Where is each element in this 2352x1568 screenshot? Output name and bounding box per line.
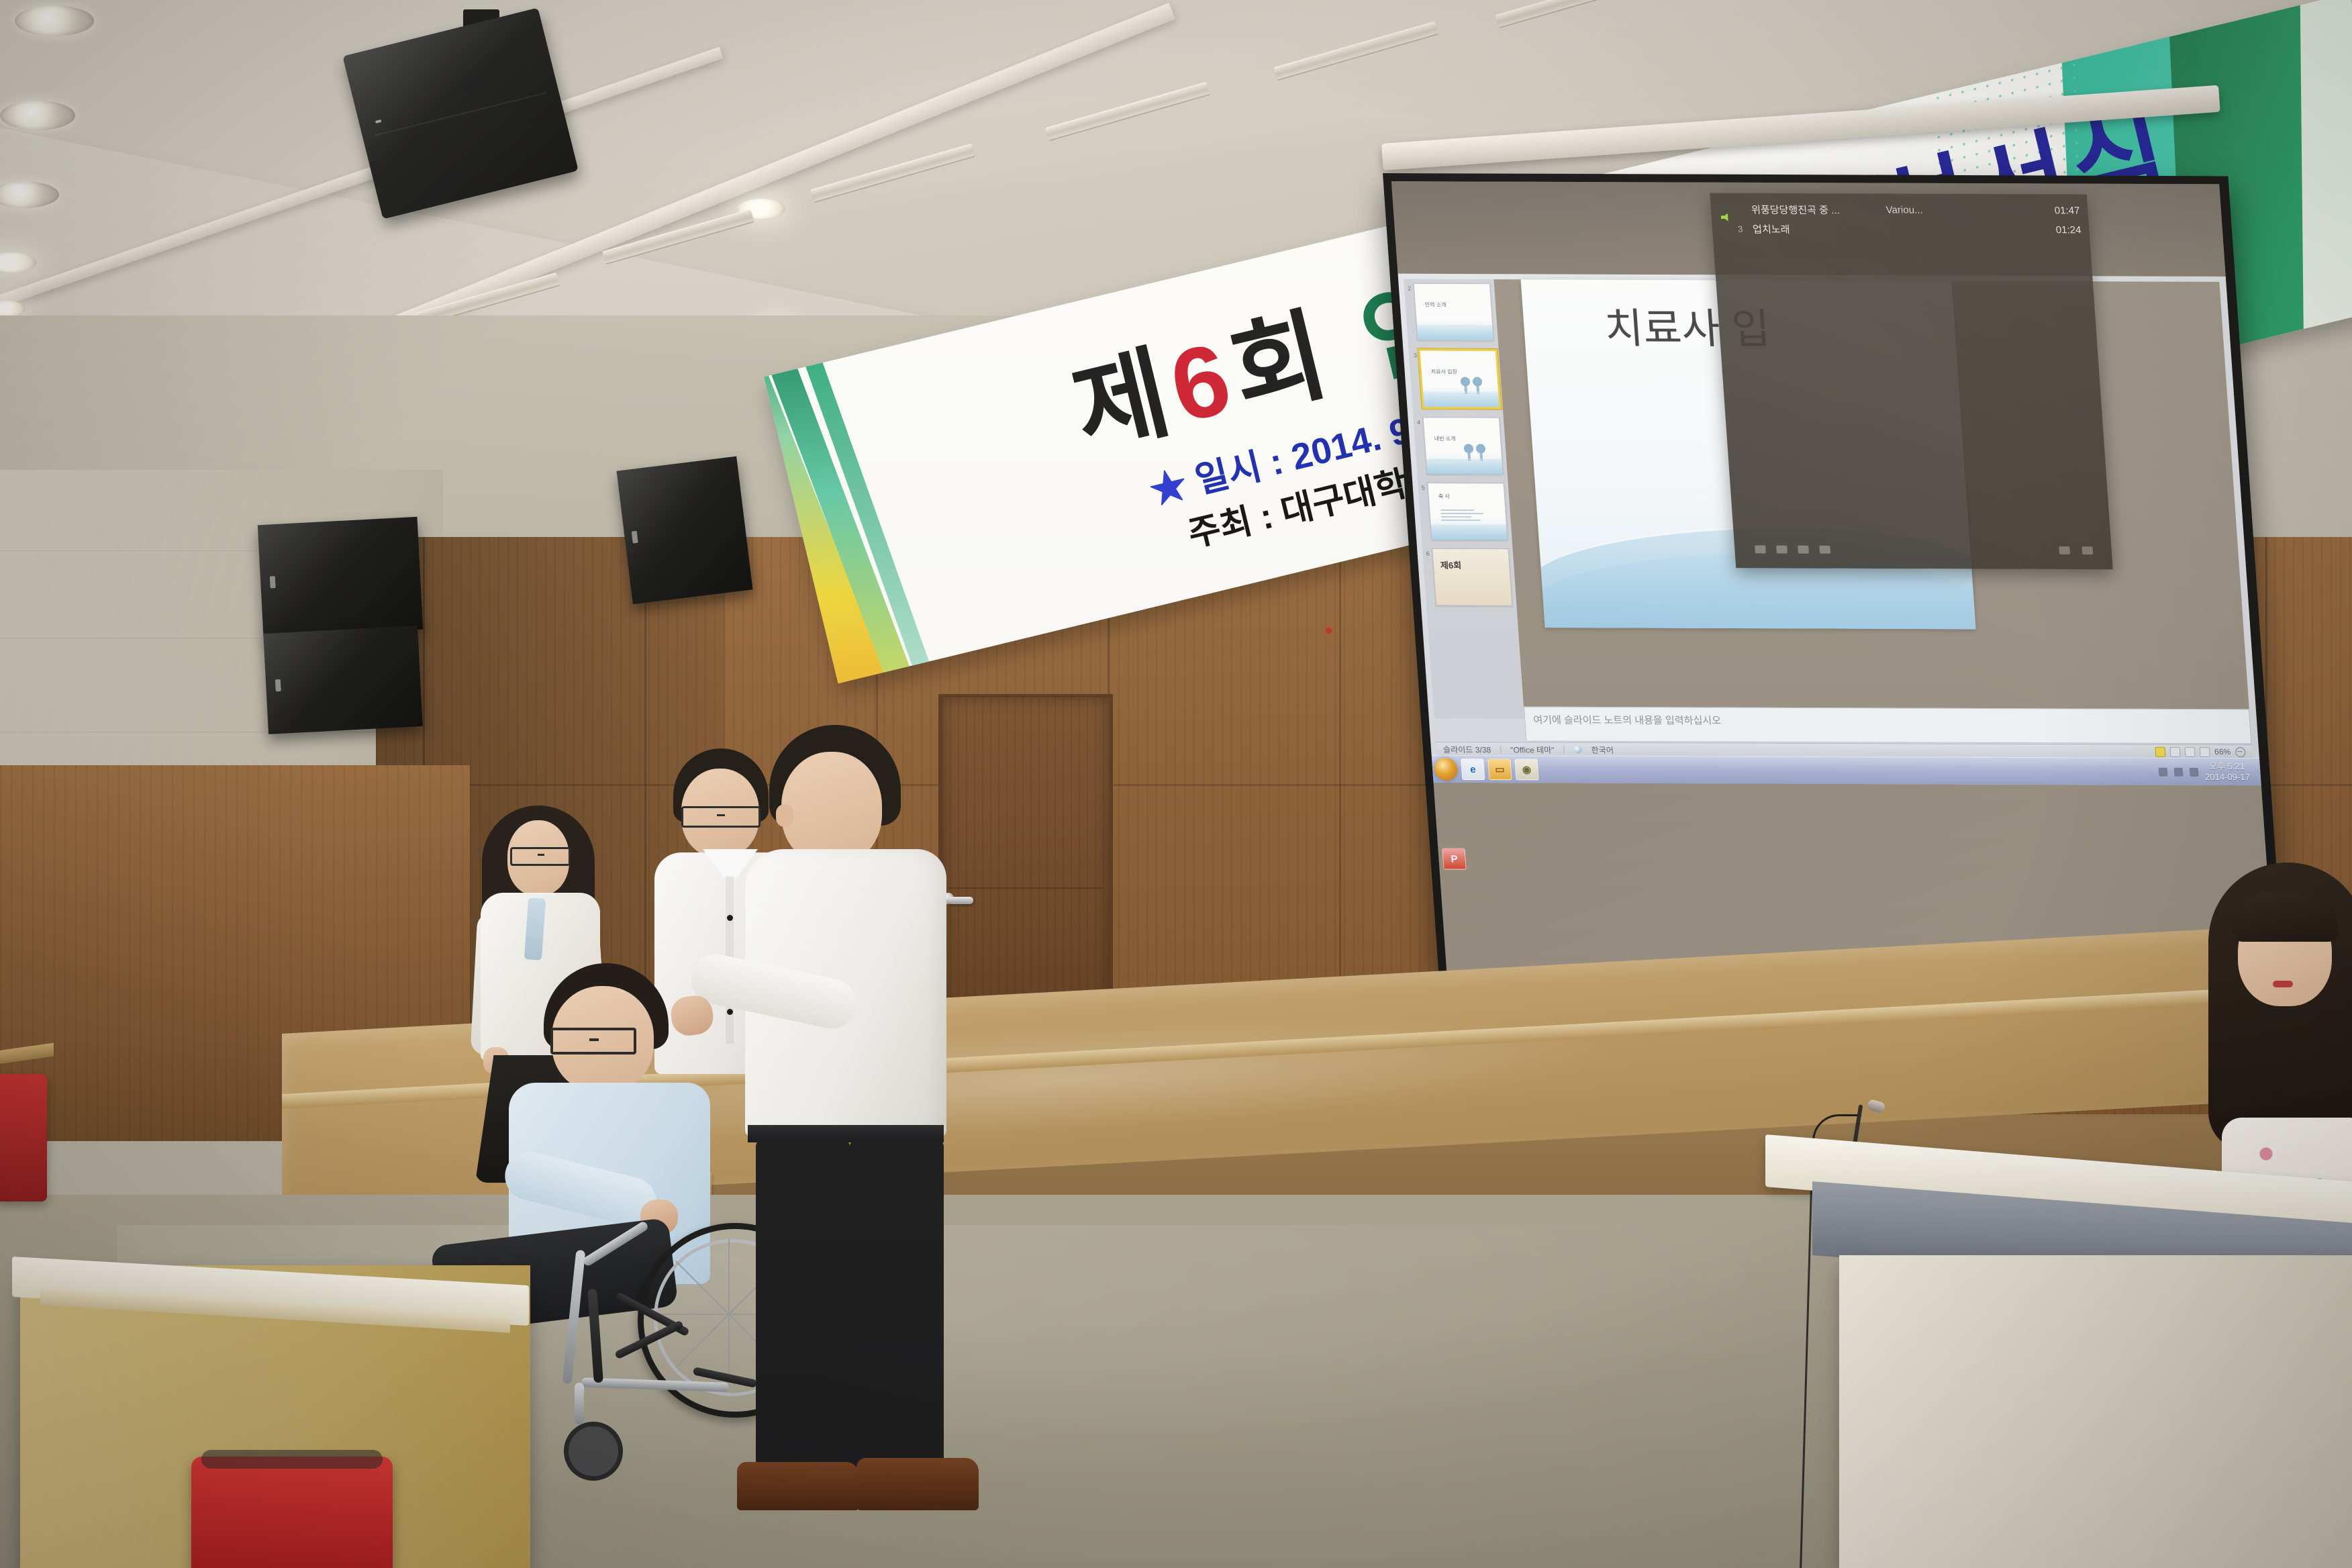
far-red-chair	[0, 1074, 47, 1202]
slide-thumbnail-title: 내빈 소개	[1434, 435, 1456, 442]
powerpoint-icon[interactable]: P	[1442, 848, 1466, 870]
track-artist: Variou...	[1885, 204, 1948, 215]
slide-thumbnail-number: 3	[1414, 352, 1418, 358]
powerpoint-window[interactable]: 2 인력 소개 3 치료사 입장 4 내빈 소개	[1398, 274, 2261, 785]
slide-editing-area[interactable]: 치료사 입 위풍당당행진곡 중 ... Variou... 01:47	[1493, 279, 2250, 721]
slide-thumbnail-selected[interactable]: 3 치료사 입장	[1418, 348, 1502, 409]
wall-speaker-upper	[258, 517, 423, 638]
media-player-options[interactable]	[2059, 546, 2093, 554]
speaker-icon	[1720, 213, 1730, 222]
media-player-window[interactable]: 위풍당당행진곡 중 ... Variou... 01:47 3 업치노래 01:…	[1710, 193, 2113, 570]
taskbar-clock[interactable]: 오후 5:21 2014-09-17	[2204, 761, 2256, 783]
tray-display-icon[interactable]	[2173, 767, 2183, 776]
slide-counter: 슬라이드 3/38	[1442, 744, 1491, 755]
red-chair	[191, 1457, 393, 1568]
slide-thumbnail-title: 치료사 입장	[1430, 368, 1457, 375]
media-player-icon[interactable]: ◉	[1514, 758, 1538, 780]
slide-thumbnail[interactable]: 6 제6회	[1432, 548, 1512, 606]
shoe	[856, 1458, 979, 1510]
slide-thumbnail[interactable]: 5 축 사	[1427, 483, 1508, 540]
tray-network-icon[interactable]	[2158, 767, 2167, 776]
track-name: 위풍당당행진곡 중 ...	[1751, 203, 1886, 217]
wheelchair-caster-wheel	[564, 1422, 623, 1481]
auditorium-photo: 제6회 언어치료사 선서식 ★ 일시 : 2014. 9. 17(수) ★ 장소…	[0, 0, 2352, 1568]
repeat-icon[interactable]	[2081, 546, 2093, 554]
wheelchair-caster-fork	[575, 1383, 584, 1424]
windows-taskbar[interactable]: e ▭ P ◉ 오후 5:21 2014-09-17	[1432, 755, 2261, 785]
input-language: 한국어	[1591, 744, 1614, 755]
slide-thumbnail-number: 5	[1422, 485, 1426, 491]
language-icon	[1573, 746, 1582, 754]
wall-speaker-side	[616, 456, 752, 604]
lectern-body	[1839, 1255, 2352, 1568]
next-icon[interactable]	[1798, 546, 1809, 554]
clock-time: 오후 5:21	[2208, 761, 2245, 771]
play-icon[interactable]	[1776, 546, 1787, 554]
slide-thumbnail-title: 인력 소개	[1424, 301, 1447, 309]
slide-thumbnail-number: 6	[1426, 550, 1430, 557]
tray-volume-icon[interactable]	[2189, 767, 2198, 776]
glasses-icon	[510, 847, 571, 866]
previous-icon[interactable]	[1755, 545, 1766, 553]
reading-view-icon[interactable]	[2184, 746, 2195, 756]
star-icon: ★	[1146, 464, 1191, 512]
wall-speaker-lower	[263, 626, 423, 734]
track-duration: 01:47	[2054, 205, 2080, 216]
playlist-row[interactable]: 3 업치노래 01:24	[1737, 222, 2081, 238]
glasses-icon	[550, 1028, 636, 1055]
clock-date: 2014-09-17	[2205, 772, 2251, 782]
playlist-row[interactable]: 위풍당당행진곡 중 ... Variou... 01:47	[1736, 203, 2080, 218]
normal-view-icon[interactable]	[2155, 746, 2165, 756]
start-orb-icon[interactable]	[1434, 758, 1458, 781]
downlight	[0, 101, 75, 130]
slide-theme-name: "Office 테마"	[1510, 744, 1555, 755]
zoom-controls[interactable]: 66%	[2155, 746, 2245, 756]
slide-notes-pane[interactable]: 여기에 슬라이드 노트의 내용을 입력하십시오	[1524, 707, 2252, 744]
track-duration: 01:24	[2055, 224, 2081, 236]
media-player-controls[interactable]	[1755, 545, 1830, 553]
person-podium-host	[2208, 863, 2352, 1212]
track-name: 업치노래	[1752, 222, 1888, 237]
shoe	[737, 1462, 859, 1510]
slide-thumbnail[interactable]: 2 인력 소개	[1414, 283, 1494, 341]
slide-thumbnail-number: 2	[1408, 285, 1412, 292]
sorter-view-icon[interactable]	[2169, 746, 2180, 756]
zoom-level: 66%	[2214, 747, 2231, 756]
track-index: 3	[1738, 224, 1753, 234]
person-student-assistant	[732, 725, 953, 1517]
system-tray[interactable]: 오후 5:21 2014-09-17	[2157, 761, 2261, 783]
shuffle-icon[interactable]	[2059, 546, 2070, 554]
slide-thumbnail-number: 4	[1417, 419, 1421, 426]
slide-thumbnail[interactable]: 4 내빈 소개	[1422, 417, 1503, 475]
folder-icon[interactable]: ▭	[1487, 758, 1512, 780]
slideshow-icon[interactable]	[2200, 746, 2210, 756]
downlight	[15, 5, 94, 36]
slide-thumbnail-title: 축 사	[1438, 493, 1450, 500]
banner-host-label: 주최	[1185, 501, 1257, 554]
slide-thumbnail-title: 제6회	[1440, 558, 1462, 571]
projection-screen: 2 인력 소개 3 치료사 입장 4 내빈 소개	[1383, 173, 2288, 1032]
fit-to-window-icon[interactable]	[2235, 747, 2246, 757]
stop-icon[interactable]	[1819, 546, 1830, 554]
internet-explorer-icon[interactable]: e	[1461, 758, 1485, 780]
